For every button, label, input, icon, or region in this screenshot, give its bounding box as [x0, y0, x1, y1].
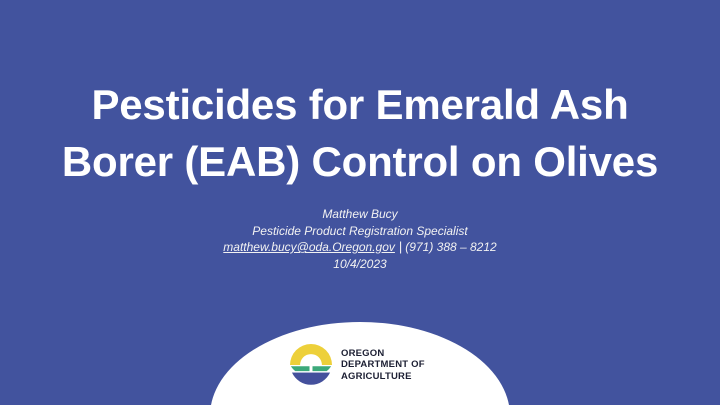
email-link[interactable]: matthew.bucy@oda.Oregon.gov: [223, 240, 395, 254]
title-line-1: Pesticides for Emerald Ash: [0, 76, 720, 133]
title-line-2: Borer (EAB) Control on Olives: [0, 133, 720, 190]
phone-number: (971) 388 – 8212: [405, 240, 496, 254]
contact-separator: |: [395, 239, 405, 254]
wordmark-line-2: DEPARTMENT OF: [341, 359, 425, 371]
wordmark-line-3: AGRICULTURE: [341, 371, 425, 383]
presenter-role: Pesticide Product Registration Specialis…: [0, 223, 720, 240]
wordmark-line-1: OREGON: [341, 348, 425, 360]
oda-seal-icon: [290, 344, 332, 386]
oregon-department-of-agriculture-logo: OREGON DEPARTMENT OF AGRICULTURE: [290, 344, 425, 386]
page-title: Pesticides for Emerald Ash Borer (EAB) C…: [0, 76, 720, 190]
presenter-info-block: Matthew Bucy Pesticide Product Registrat…: [0, 206, 720, 272]
presentation-date: 10/4/2023: [0, 256, 720, 273]
title-slide: Pesticides for Emerald Ash Borer (EAB) C…: [0, 0, 720, 405]
contact-line: matthew.bucy@oda.Oregon.gov|(971) 388 – …: [0, 239, 720, 256]
presenter-name: Matthew Bucy: [0, 206, 720, 223]
logo-wordmark: OREGON DEPARTMENT OF AGRICULTURE: [341, 348, 425, 383]
